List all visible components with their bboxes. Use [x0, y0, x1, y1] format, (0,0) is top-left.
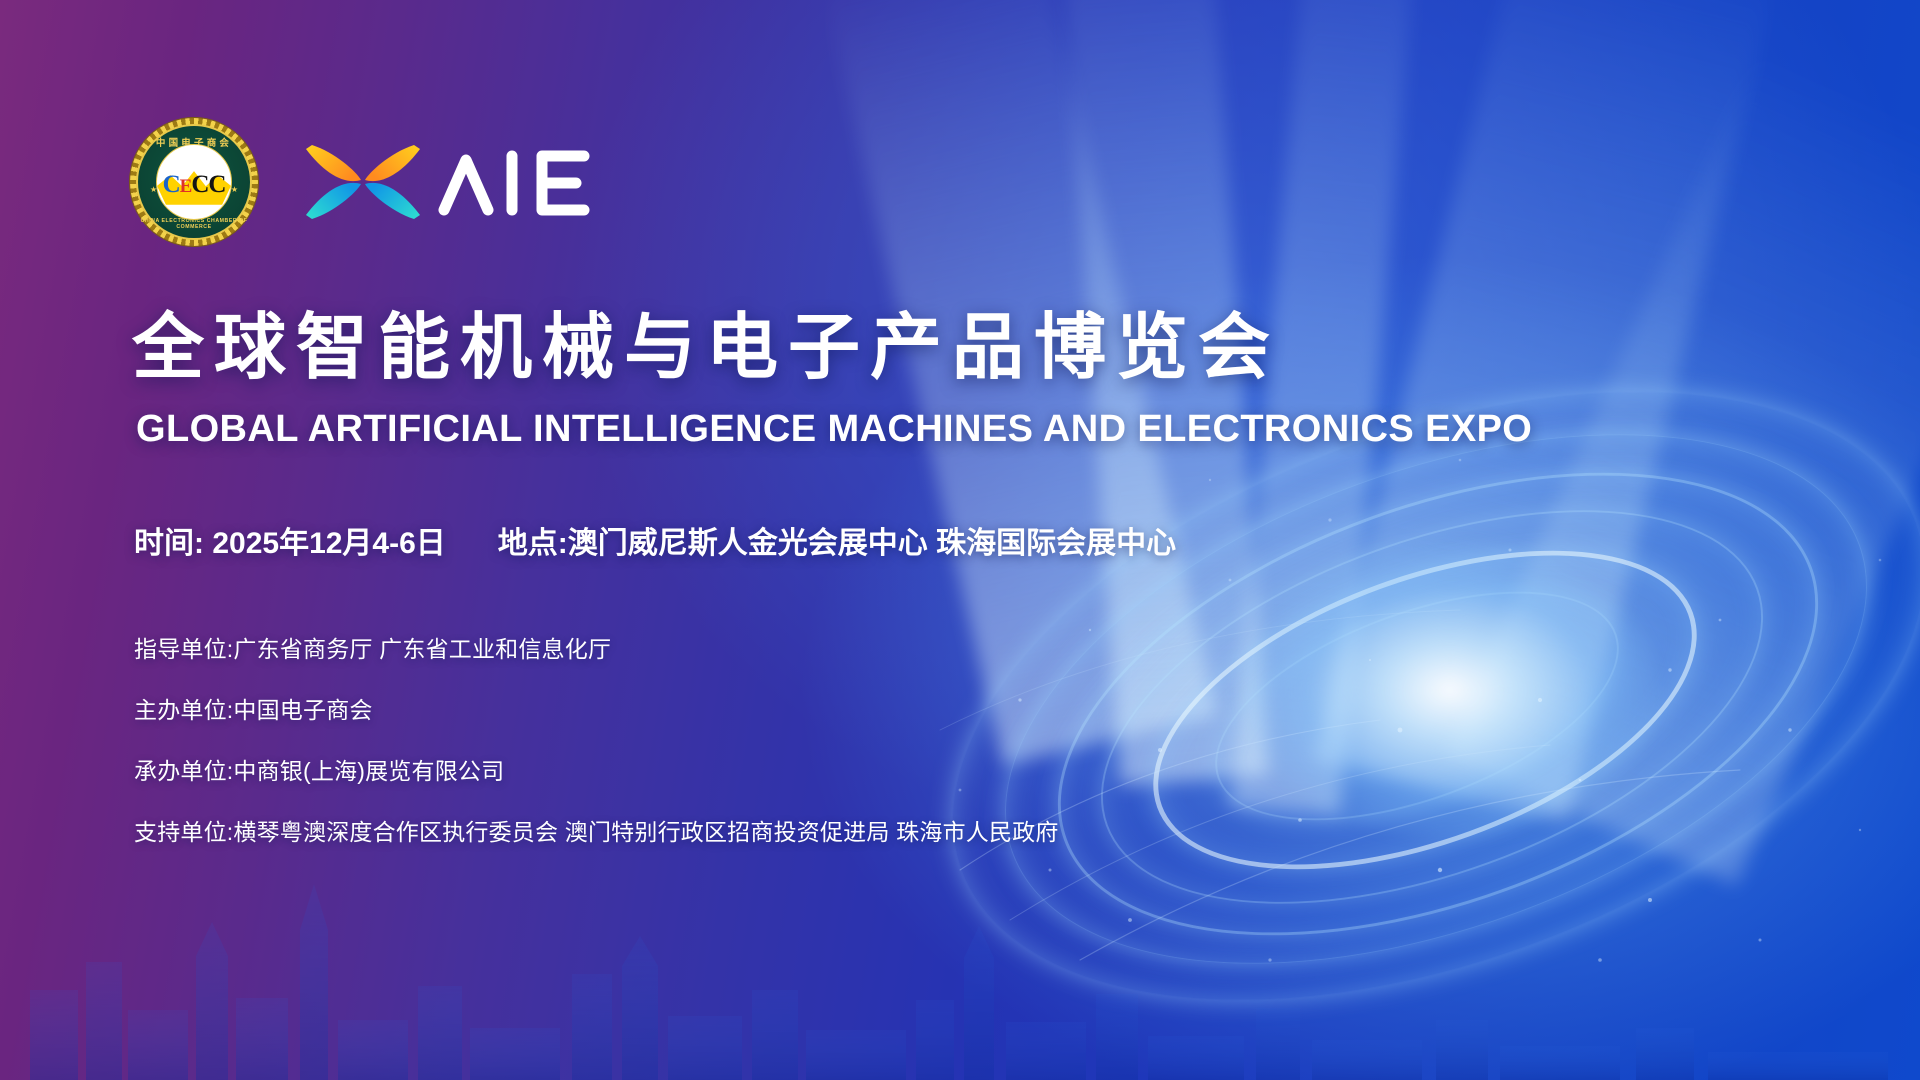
org-line-support: 支持单位:横琴粤澳深度合作区执行委员会 澳门特别行政区招商投资促进局 珠海市人民…: [134, 813, 1059, 847]
organization-list: 指导单位:广东省商务厅 广东省工业和信息化厅 主办单位:中国电子商会 承办单位:…: [134, 630, 1059, 847]
seal-star-right: ★: [231, 185, 238, 194]
page-title: 全球智能机械与电子产品博览会: [132, 288, 1280, 393]
glow-core: [1240, 540, 1660, 840]
cecc-seal-logo: 中国电子商会 ★ ★ CHINA ELECTRONICS CHAMBER OF …: [130, 118, 258, 246]
seal-inner-disc: CECC: [156, 144, 232, 220]
aie-logo: [304, 132, 590, 232]
org-line-organizer: 承办单位:中商银(上海)展览有限公司: [134, 752, 1059, 786]
seal-monogram: CECC: [163, 171, 226, 199]
aie-butterfly-icon: [304, 139, 422, 225]
event-meta: 时间: 2025年12月4-6日 地点:澳门威尼斯人金光会展中心 珠海国际会展中…: [134, 518, 1176, 562]
seal-monogram-e: E: [180, 176, 192, 197]
seal-monogram-c1: C: [163, 171, 180, 198]
page-subtitle: GLOBAL ARTIFICIAL INTELLIGENCE MACHINES …: [136, 408, 1532, 451]
event-date: 时间: 2025年12月4-6日: [134, 518, 446, 562]
seal-monogram-c3: C: [208, 171, 225, 198]
logo-row: 中国电子商会 ★ ★ CHINA ELECTRONICS CHAMBER OF …: [130, 118, 590, 246]
org-line-guidance: 指导单位:广东省商务厅 广东省工业和信息化厅: [134, 630, 1059, 664]
seal-monogram-c2: C: [191, 171, 208, 198]
org-line-host: 主办单位:中国电子商会: [134, 691, 1059, 725]
expo-poster: 中国电子商会 ★ ★ CHINA ELECTRONICS CHAMBER OF …: [0, 0, 1920, 1080]
event-venue: 地点:澳门威尼斯人金光会展中心 珠海国际会展中心: [498, 518, 1176, 562]
aie-wordmark: [438, 146, 590, 218]
